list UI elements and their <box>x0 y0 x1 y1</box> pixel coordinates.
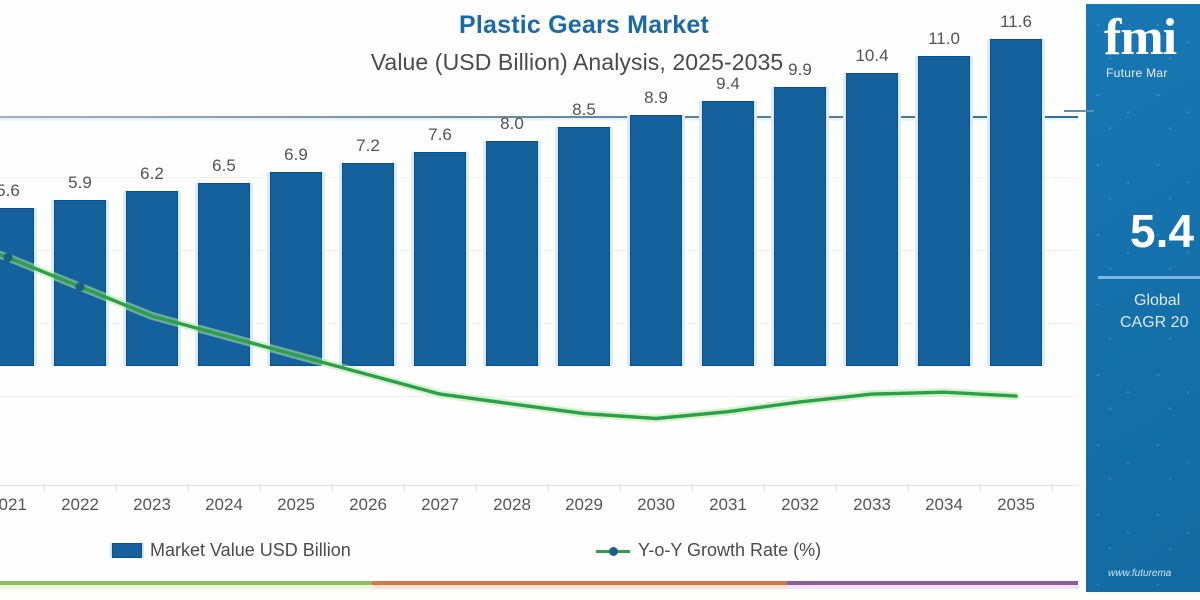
axis-tick <box>980 485 981 491</box>
orange-segment <box>372 581 787 587</box>
growth-line-marker[interactable] <box>75 282 84 291</box>
axis-tick <box>332 485 333 491</box>
chart-panel: Plastic Gears Market Value (USD Billion)… <box>0 0 1078 592</box>
x-axis-label: 2035 <box>980 495 1052 515</box>
bar-value-label: 11.0 <box>908 29 980 49</box>
growth-line-glow <box>0 241 1016 418</box>
axis-tick <box>836 485 837 491</box>
sidebar-left-rule <box>1064 110 1094 112</box>
legend-label: Market Value USD Billion <box>150 540 351 561</box>
x-axis-label: 2024 <box>188 495 260 515</box>
axis-tick <box>404 485 405 491</box>
x-axis-label: 2033 <box>836 495 908 515</box>
brand-sidebar: fmi Future Mar 5.4 Global CAGR 20 www.fu… <box>1078 0 1200 592</box>
cagr-caption-period: CAGR 20 <box>1120 314 1200 332</box>
purple-segment-halo <box>787 585 1078 589</box>
x-axis-label: 2034 <box>908 495 980 515</box>
legend-label: Y-o-Y Growth Rate (%) <box>638 540 821 561</box>
legend-item-growth-rate[interactable]: Y-o-Y Growth Rate (%) <box>596 540 821 561</box>
x-axis-label: 2028 <box>476 495 548 515</box>
axis-tick <box>620 485 621 491</box>
fmi-logo: fmi <box>1104 12 1200 64</box>
axis-tick <box>692 485 693 491</box>
x-axis-label: 2027 <box>404 495 476 515</box>
bar-value-label: 11.6 <box>980 12 1052 32</box>
axis-tick <box>476 485 477 491</box>
x-axis-label: 2026 <box>332 495 404 515</box>
green-segment <box>0 581 372 587</box>
orange-segment-halo <box>372 585 787 589</box>
axis-tick <box>764 485 765 491</box>
bottom-accent-bar <box>0 581 1078 589</box>
growth-line-marker[interactable] <box>3 253 12 262</box>
x-axis-label: 2032 <box>764 495 836 515</box>
x-axis-label: 2021 <box>0 495 44 515</box>
legend-square-icon <box>112 543 142 558</box>
legend-line-dot-icon <box>596 544 630 557</box>
green-segment-halo <box>0 585 372 589</box>
axis-tick <box>188 485 189 491</box>
x-axis-label: 2030 <box>620 495 692 515</box>
axis-tick <box>116 485 117 491</box>
axis-tick <box>908 485 909 491</box>
growth-rate-line-series <box>0 119 1078 485</box>
x-axis-label: 2023 <box>116 495 188 515</box>
axis-tick <box>1052 485 1053 491</box>
purple-segment <box>787 581 1078 587</box>
cagr-caption-global: Global <box>1134 292 1200 310</box>
x-axis-ticks <box>0 485 1078 491</box>
bar-value-label: 8.5 <box>548 100 620 120</box>
legend-item-market-value[interactable]: Market Value USD Billion <box>112 540 351 561</box>
sidebar-divider <box>1098 276 1200 279</box>
chart-screenshot: Plastic Gears Market Value (USD Billion)… <box>0 0 1200 600</box>
x-axis-labels: 2021202220232024202520262027202820292030… <box>0 495 1078 523</box>
website-url: www.futurema <box>1108 568 1200 579</box>
chart-legend: Market Value USD Billion Y-o-Y Growth Ra… <box>0 537 1078 569</box>
x-axis-label: 2031 <box>692 495 764 515</box>
x-axis-label: 2022 <box>44 495 116 515</box>
bar-value-label: 10.4 <box>836 46 908 66</box>
bar-value-label: 8.9 <box>620 88 692 108</box>
bar-value-label: 9.4 <box>692 74 764 94</box>
axis-tick <box>260 485 261 491</box>
x-axis-label: 2025 <box>260 495 332 515</box>
axis-tick <box>548 485 549 491</box>
cagr-value: 5.4 <box>1130 208 1200 254</box>
x-axis-label: 2029 <box>548 495 620 515</box>
brand-sidebar-inner: fmi Future Mar 5.4 Global CAGR 20 www.fu… <box>1086 4 1200 592</box>
bar-value-label: 9.9 <box>764 60 836 80</box>
fmi-logo-subtitle: Future Mar <box>1106 66 1200 80</box>
axis-tick <box>44 485 45 491</box>
